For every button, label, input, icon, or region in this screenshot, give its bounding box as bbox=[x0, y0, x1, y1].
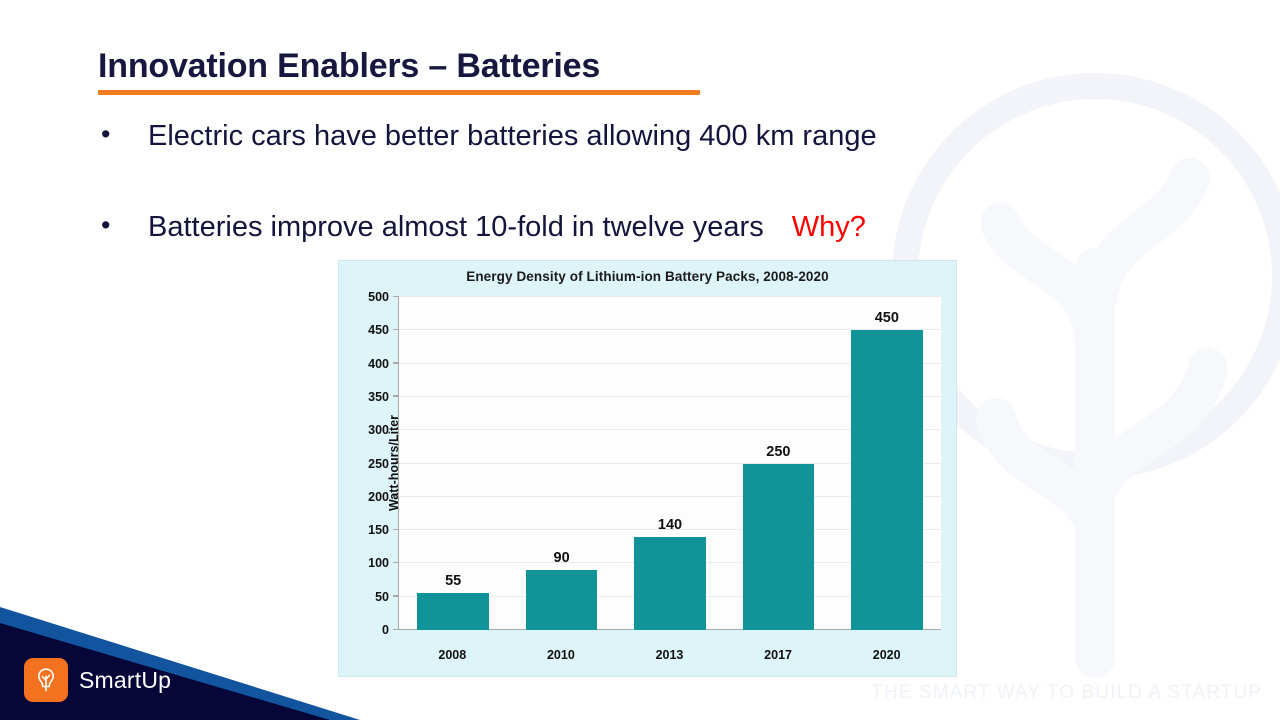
chart-bars: 5590140250450 bbox=[399, 297, 941, 630]
chart-y-tick-label: 200 bbox=[368, 490, 389, 504]
chart-bar-slot: 450 bbox=[833, 297, 941, 630]
chart-y-tick-label: 300 bbox=[368, 423, 389, 437]
chart-y-tick-label: 250 bbox=[368, 457, 389, 471]
bullet-text: Electric cars have better batteries allo… bbox=[148, 118, 877, 154]
chart-title: Energy Density of Lithium-ion Battery Pa… bbox=[339, 269, 956, 284]
chart-y-tick-label: 150 bbox=[368, 523, 389, 537]
bar-chart: Energy Density of Lithium-ion Battery Pa… bbox=[338, 260, 957, 677]
chart-x-tick-label: 2013 bbox=[615, 648, 724, 662]
chart-y-tick-label: 450 bbox=[368, 323, 389, 337]
bullet-marker-icon: • bbox=[96, 118, 148, 152]
chart-bar-value-label: 450 bbox=[875, 310, 899, 326]
brand-tagline: THE SMART WAY TO BUILD A STARTUP bbox=[871, 682, 1262, 704]
chart-x-tick-label: 2008 bbox=[398, 648, 507, 662]
chart-bar: 140 bbox=[634, 537, 706, 630]
chart-y-axis-label: Watt-hours/Liter bbox=[387, 415, 401, 511]
chart-bar-value-label: 140 bbox=[658, 517, 682, 533]
page-title: Innovation Enablers – Batteries bbox=[98, 48, 998, 95]
brand-corner: SmartUp bbox=[0, 585, 360, 720]
chart-y-tick-label: 400 bbox=[368, 357, 389, 371]
logo-wordmark: SmartUp bbox=[79, 667, 171, 694]
chart-bar-value-label: 90 bbox=[554, 550, 570, 566]
chart-plot-wrapper: 050100150200250300350400450500 559014025… bbox=[398, 296, 941, 630]
chart-y-tick-label: 350 bbox=[368, 390, 389, 404]
tree-bulb-icon bbox=[24, 658, 68, 702]
bullet-highlight-text: Why? bbox=[792, 209, 866, 245]
list-item: • Batteries improve almost 10-fold in tw… bbox=[96, 209, 1156, 245]
chart-x-tick-label: 2017 bbox=[724, 648, 833, 662]
chart-bar-slot: 140 bbox=[616, 297, 724, 630]
chart-x-tick-label: 2020 bbox=[832, 648, 941, 662]
chart-x-tick-labels: 20082010201320172020 bbox=[398, 648, 941, 662]
list-item: • Electric cars have better batteries al… bbox=[96, 118, 1156, 154]
logo-lockup: SmartUp bbox=[24, 658, 171, 702]
chart-bar-value-label: 55 bbox=[445, 573, 461, 589]
chart-x-tick-label: 2010 bbox=[507, 648, 616, 662]
chart-bar-slot: 250 bbox=[724, 297, 832, 630]
bullet-marker-icon: • bbox=[96, 209, 148, 243]
bullet-text: Batteries improve almost 10-fold in twel… bbox=[148, 209, 764, 245]
chart-y-tick-label: 100 bbox=[368, 556, 389, 570]
bullet-list: • Electric cars have better batteries al… bbox=[96, 118, 1156, 246]
chart-plot-area: 050100150200250300350400450500 559014025… bbox=[398, 296, 941, 630]
title-underline-rule bbox=[98, 90, 700, 95]
chart-bar: 90 bbox=[526, 570, 598, 630]
chart-y-tick-label: 50 bbox=[375, 590, 389, 604]
slide-canvas: Innovation Enablers – Batteries • Electr… bbox=[0, 0, 1280, 720]
chart-bar-value-label: 250 bbox=[766, 444, 790, 460]
chart-bar: 450 bbox=[851, 330, 923, 630]
chart-bar: 250 bbox=[743, 464, 815, 631]
chart-y-tick-label: 0 bbox=[382, 623, 389, 637]
chart-y-tick-label: 500 bbox=[368, 290, 389, 304]
slide-title-text: Innovation Enablers – Batteries bbox=[98, 48, 998, 85]
chart-bar-slot: 55 bbox=[399, 297, 507, 630]
chart-bar-slot: 90 bbox=[507, 297, 615, 630]
chart-bar: 55 bbox=[417, 593, 489, 630]
